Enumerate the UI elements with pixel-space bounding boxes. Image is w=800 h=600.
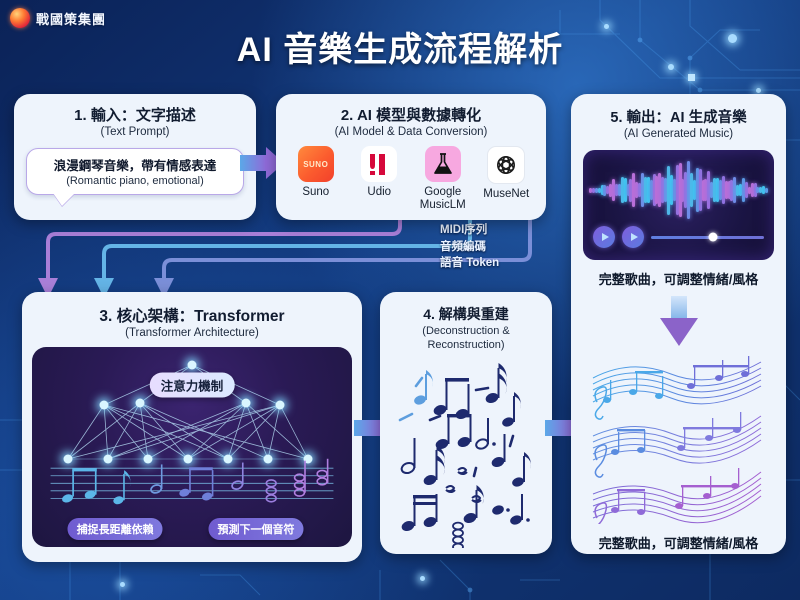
- music-staff: [32, 455, 352, 521]
- generated-sheet-music: [571, 354, 786, 524]
- network-node: [276, 401, 285, 410]
- panel-models-title: 2. AI 模型與數據轉化: [276, 104, 546, 125]
- panel-deconstruction-subtitle-line1: (Deconstruction &: [380, 325, 552, 338]
- glow-dot: [120, 582, 125, 587]
- panel-output-subtitle: (AI Generated Music): [571, 128, 786, 140]
- data-label-midi: MIDI序列: [440, 222, 499, 239]
- prompt-bubble: 浪漫鋼琴音樂，帶有情感表達 (Romantic piano, emotional…: [26, 148, 244, 195]
- panel-transformer: 3. 核心架構：Transformer (Transformer Archite…: [22, 292, 362, 562]
- player-controls[interactable]: [593, 226, 764, 248]
- waveform-bar: [765, 188, 768, 193]
- model-item-musenet[interactable]: MuseNet: [477, 146, 535, 201]
- udio-logo-icon: [361, 146, 397, 182]
- scattered-music-notes: [380, 358, 552, 548]
- suno-logo-icon: SUNO: [298, 146, 334, 182]
- output-caption-bottom: 完整歌曲，可調整情緒/風格: [571, 533, 786, 552]
- panel-transformer-subtitle: (Transformer Architecture): [22, 327, 362, 339]
- model-list: SUNO Suno Udio: [284, 146, 538, 212]
- model-item-google-musiclm[interactable]: Google MusicLM: [414, 146, 472, 212]
- model-name-suno: Suno: [287, 186, 345, 199]
- network-node: [100, 401, 109, 410]
- panel-output-title: 5. 輸出：AI 生成音樂: [571, 106, 786, 127]
- infographic-canvas: 戰國策集團 AI 音樂生成流程解析 MIDI序列 音頻編碼 語音 Token 1…: [0, 0, 800, 600]
- attention-mechanism-label: 注意力機制: [150, 373, 235, 398]
- google-musiclm-flask-icon: [425, 146, 461, 182]
- openai-musenet-logo-icon: [487, 146, 525, 184]
- suno-wordmark: SUNO: [303, 160, 328, 169]
- panel-deconstruction: 4. 解構與重建 (Deconstruction & Reconstructio…: [380, 292, 552, 554]
- progress-slider[interactable]: [651, 236, 764, 239]
- network-node: [135, 399, 144, 408]
- panel-deconstruction-title: 4. 解構與重建: [380, 304, 552, 324]
- data-format-labels: MIDI序列 音頻編碼 語音 Token: [440, 222, 499, 272]
- panel-deconstruction-subtitle-line2: Reconstruction): [380, 339, 552, 352]
- play-button-icon-secondary[interactable]: [622, 226, 644, 248]
- panel-output: 5. 輸出：AI 生成音樂 (AI Generated Music) 完整歌曲，…: [571, 94, 786, 554]
- data-label-token: 語音 Token: [440, 255, 499, 272]
- panel-input: 1. 輸入：文字描述 (Text Prompt) 浪漫鋼琴音樂，帶有情感表達 (…: [14, 94, 256, 220]
- model-item-udio[interactable]: Udio: [350, 146, 408, 199]
- panel-transformer-title: 3. 核心架構：Transformer: [22, 304, 362, 326]
- progress-knob[interactable]: [709, 233, 718, 242]
- panel-input-title: 1. 輸入：文字描述: [14, 104, 256, 125]
- network-node: [241, 399, 250, 408]
- network-node: [188, 361, 197, 370]
- model-name-udio: Udio: [350, 186, 408, 199]
- panel-models-subtitle: (AI Model & Data Conversion): [276, 126, 546, 138]
- model-name-google-musiclm: Google MusicLM: [414, 186, 472, 212]
- neural-network-diagram: 注意力機制: [32, 347, 352, 547]
- output-caption-top: 完整歌曲，可調整情緒/風格: [571, 269, 786, 288]
- data-label-audio: 音頻編碼: [440, 239, 499, 256]
- panel-input-subtitle: (Text Prompt): [14, 126, 256, 138]
- audio-waveform: [583, 156, 774, 224]
- prompt-text-zh: 浪漫鋼琴音樂，帶有情感表達: [35, 155, 235, 174]
- glow-dot: [756, 88, 761, 93]
- prompt-text-en: (Romantic piano, emotional): [35, 175, 235, 187]
- tag-next-note-prediction: 預測下一個音符: [209, 518, 304, 540]
- play-button-icon[interactable]: [593, 226, 615, 248]
- glow-dot: [420, 576, 425, 581]
- model-name-musenet: MuseNet: [477, 188, 535, 201]
- panel-models: 2. AI 模型與數據轉化 (AI Model & Data Conversio…: [276, 94, 546, 220]
- tag-long-range-dependency: 捕捉長距離依賴: [68, 518, 163, 540]
- arrow-down-icon: [660, 296, 698, 348]
- glow-square: [688, 74, 695, 81]
- page-title: AI 音樂生成流程解析: [0, 22, 800, 71]
- model-item-suno[interactable]: SUNO Suno: [287, 146, 345, 199]
- audio-player[interactable]: [583, 150, 774, 260]
